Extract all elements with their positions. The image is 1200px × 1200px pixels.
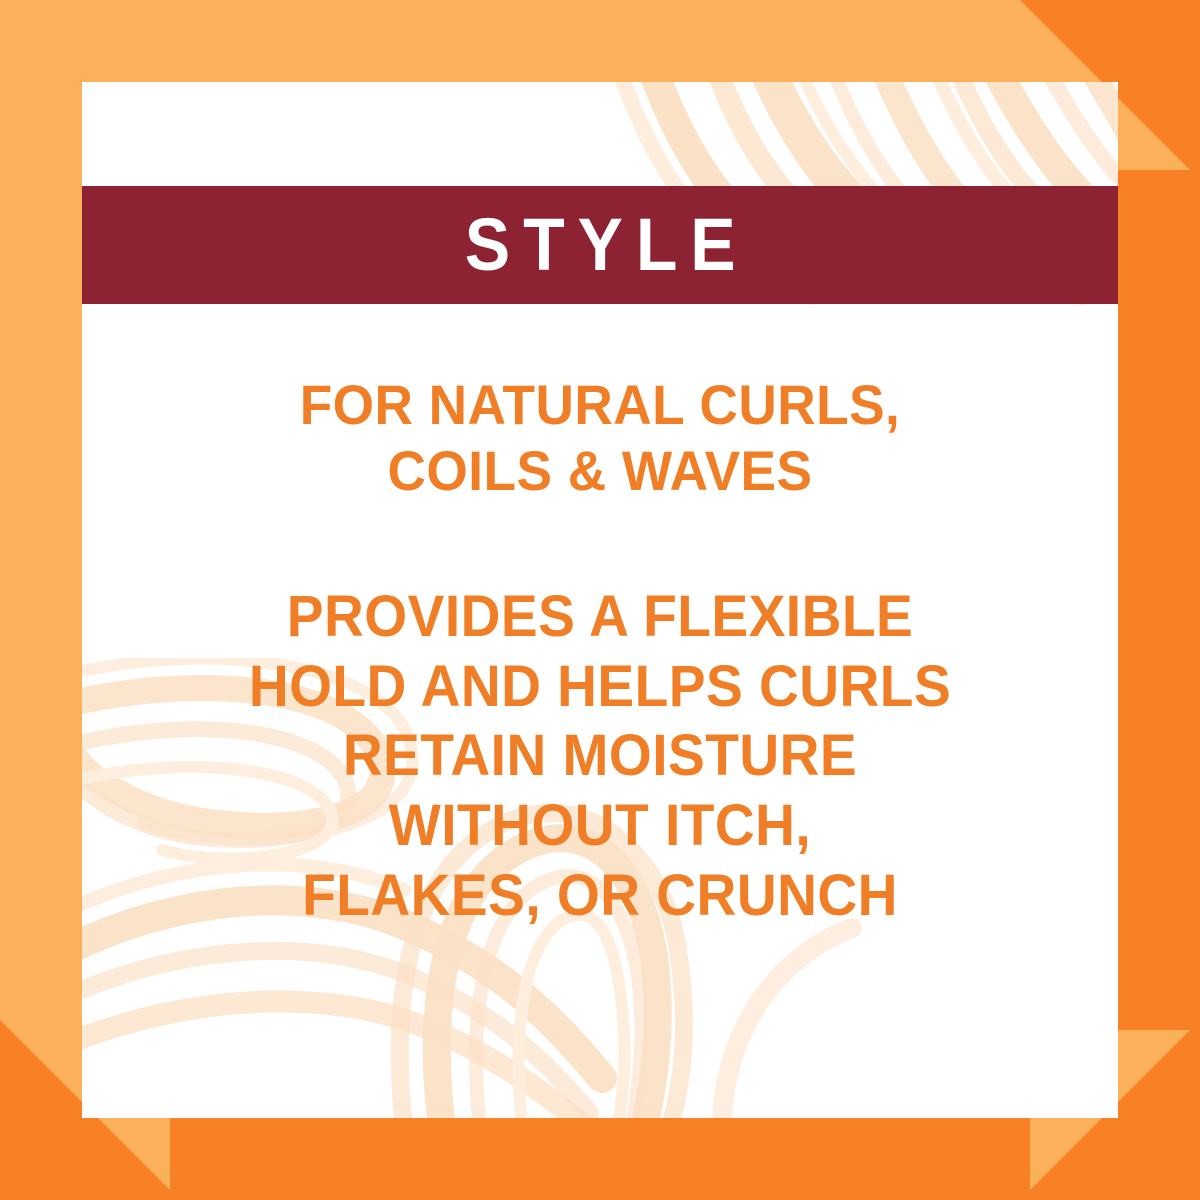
headline-line-2: COILS & WAVES: [108, 438, 1092, 504]
banner-title: STYLE: [452, 208, 749, 282]
border-band-bottom: [170, 1118, 1030, 1200]
style-banner: STYLE: [82, 186, 1118, 304]
headline-line-1: FOR NATURAL CURLS,: [108, 372, 1092, 438]
benefit-line-2: HOLD AND HELPS CURLS: [108, 652, 1092, 722]
copy-area: FOR NATURAL CURLS, COILS & WAVES PROVIDE…: [82, 372, 1118, 930]
border-band-right: [1118, 170, 1200, 1030]
benefit-line-1: PROVIDES A FLEXIBLE: [108, 582, 1092, 652]
benefit-line-3: RETAIN MOISTURE: [108, 721, 1092, 791]
benefit-block: PROVIDES A FLEXIBLE HOLD AND HELPS CURLS…: [82, 582, 1118, 930]
benefit-line-5: FLAKES, OR CRUNCH: [108, 861, 1092, 931]
benefit-line-4: WITHOUT ITCH,: [108, 791, 1092, 861]
content-panel: STYLE FOR NATURAL CURLS, COILS & WAVES P…: [82, 82, 1118, 1118]
headline-block: FOR NATURAL CURLS, COILS & WAVES: [82, 372, 1118, 504]
product-feature-graphic: STYLE FOR NATURAL CURLS, COILS & WAVES P…: [0, 0, 1200, 1200]
